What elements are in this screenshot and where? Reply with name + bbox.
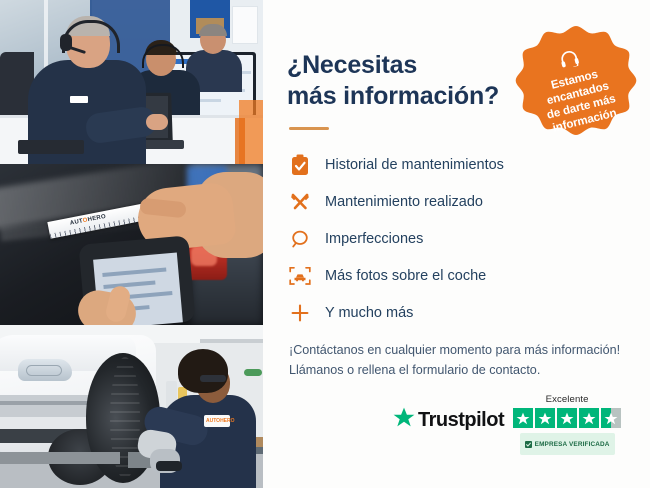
list-item-label: Más fotos sobre el coche [325, 269, 486, 284]
content-panel: ¿Necesitas más información? Historial de… [263, 0, 650, 488]
rating-star-1 [513, 408, 533, 428]
list-item-label: Mantenimiento realizado [325, 195, 483, 210]
list-item: Más fotos sobre el coche [287, 263, 624, 289]
list-item-label: Imperfecciones [325, 232, 423, 247]
list-item: Imperfecciones [287, 226, 624, 252]
contact-line-2: Llámanos o rellena el formulario de cont… [289, 363, 540, 377]
trustpilot-star-rating [513, 408, 621, 428]
contact-line-1: ¡Contáctanos en cualquier momento para m… [289, 343, 620, 357]
rating-star-5-half [601, 408, 621, 428]
mechanic-wheel-photo: AUTOHERO [0, 325, 263, 488]
headline-line-2: más información? [287, 82, 499, 110]
trustpilot-logo: Trustpilot [393, 394, 504, 433]
trustpilot-star-icon [393, 407, 415, 433]
call-center-agents-photo [0, 0, 263, 164]
list-item-label: Y mucho más [325, 306, 413, 321]
contact-text: ¡Contáctanos en cualquier momento para m… [289, 340, 624, 381]
verified-company-label: EMPRESA VERIFICADA [535, 441, 610, 448]
verified-check-icon [525, 435, 532, 453]
list-item: Y mucho más [287, 300, 624, 326]
rating-star-2 [535, 408, 555, 428]
rating-star-4 [579, 408, 599, 428]
list-item-label: Historial de mantenimientos [325, 158, 504, 173]
verified-company-badge: EMPRESA VERIFICADA [520, 433, 615, 455]
trustpilot-brand-label: Trustpilot [418, 409, 504, 432]
crossed-tools-icon [287, 189, 313, 215]
list-item: Historial de mantenimientos [287, 152, 624, 178]
trustpilot-widget[interactable]: Trustpilot Excelente [393, 394, 621, 455]
feature-list: Historial de mantenimientos Mantenimient… [287, 152, 624, 326]
autohero-more-info-banner: AUTOHERO [0, 0, 650, 488]
page-title: ¿Necesitas más información? [287, 50, 519, 111]
status-badge: Estamos encantados de darte más informac… [514, 24, 638, 148]
car-scan-icon [287, 263, 313, 289]
clipboard-check-icon [287, 152, 313, 178]
photo-column: AUTOHERO [0, 0, 263, 488]
plus-icon [287, 300, 313, 326]
rating-star-3 [557, 408, 577, 428]
headline-line-1: ¿Necesitas [287, 51, 417, 79]
list-item: Mantenimiento realizado [287, 189, 624, 215]
title-underline-divider [289, 127, 329, 130]
trustpilot-rating-label: Excelente [546, 394, 589, 405]
magnifier-icon [287, 226, 313, 252]
car-inspection-ruler-photo: AUTOHERO [0, 164, 263, 325]
